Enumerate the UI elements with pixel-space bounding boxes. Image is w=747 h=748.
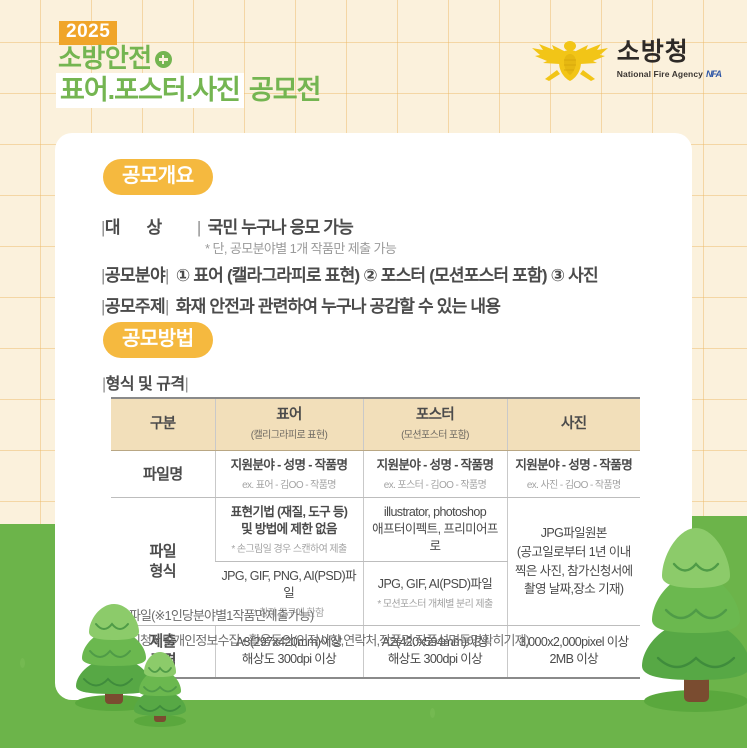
table-cell-format-photo-line1: JPG파일원본: [541, 526, 607, 540]
section-pill-overview: 공모개요: [103, 159, 213, 195]
table-cell-format-slogan-top-line1: 표현기법 (재질, 도구 등): [220, 504, 359, 521]
table-cell-format-slogan-top: 표현기법 (재질, 도구 등) 및 방법에 제한 없음 * 손그림일 경우 스캔…: [215, 498, 363, 562]
table-header-photo: 사진: [507, 398, 640, 451]
pine-tree-icon: [122, 648, 198, 728]
table-cell-format-poster-top-line2: 애프터이펙트, 프리미어프로: [368, 521, 503, 555]
table-rowhead-filename: 파일명: [111, 451, 215, 498]
info-row-field: |공모분야| ① 표어 (캘라그라피로 표현) ② 포스터 (모션포스터 포함)…: [101, 261, 598, 286]
spec-heading-text: 형식 및 규격: [106, 376, 185, 393]
pine-tree-icon: [630, 518, 747, 714]
table-cell-filename-poster-sub: ex. 포스터 - 김OO - 작품명: [368, 476, 503, 491]
table-cell-format-photo-line4: 촬영 날짜,장소 기재): [524, 582, 623, 596]
table-header-slogan-sub: (캘리그라피로 표현): [220, 426, 359, 441]
info-row-target: |대상| 국민 누구나 응모 가능: [101, 213, 353, 238]
info-row-theme: |공모주제| 화재 안전과 관련하여 누구나 공감할 수 있는 내용: [101, 292, 500, 317]
table-header-row: 구분 표어 (캘리그라피로 표현) 포스터 (모션포스터 포함) 사진: [111, 398, 640, 451]
page-title-line1-text: 소방안전: [58, 44, 152, 73]
info-label-theme: 공모주제: [105, 297, 165, 316]
table-cell-filename-photo-main: 지원분야 - 성명 - 작품명: [512, 457, 637, 474]
table-cell-format-slogan-top-line2: 및 방법에 제한 없음: [220, 521, 359, 538]
agency-logo-mark: NFA: [706, 70, 721, 79]
agency-name-en-wrap: National Fire Agency NFA: [617, 70, 721, 79]
table-header-poster-sub: (모션포스터 포함): [368, 426, 503, 441]
table-header-slogan: 표어 (캘리그라피로 표현): [215, 398, 363, 451]
page-title-line2: 표어.포스터.사진공모전: [56, 74, 320, 108]
plus-circle-icon: [155, 51, 172, 68]
table-cell-format-photo-line3: 찍은 사진, 참가신청서에: [515, 564, 633, 578]
page-title-highlight: 표어.포스터.사진: [56, 73, 244, 108]
page-title-tail: 공모전: [249, 75, 321, 105]
table-header-poster-main: 포스터: [368, 407, 503, 424]
table-cell-filename-slogan-sub: ex. 표어 - 김OO - 작품명: [220, 476, 359, 491]
agency-logo: 소방청 National Fire Agency NFA: [532, 31, 721, 87]
info-label-theme-wrap: |공모주제|: [101, 292, 169, 317]
table-header-poster: 포스터 (모션포스터 포함): [363, 398, 507, 451]
table-cell-format-poster-top-line1: illustrator, photoshop: [368, 504, 503, 521]
table-header-slogan-main: 표어: [220, 407, 359, 424]
table-rowhead-format-line2: 형식: [150, 563, 176, 580]
info-label-target-prefix: 대: [105, 218, 147, 237]
table-cell-size-photo-line1: 3,000x2,000pixel 이상: [512, 634, 637, 651]
table-cell-format-photo-block: JPG파일원본 (공고일로부터 1년 이내 찍은 사진, 참가신청서에 촬영 날…: [512, 524, 637, 599]
info-value-field: ① 표어 (캘라그라피로 표현) ② 포스터 (모션포스터 포함) ③ 사진: [176, 261, 598, 286]
table-cell-format-slogan-bottom-main: JPG, GIF, PNG, AI(PSD)파일: [219, 568, 359, 602]
table-cell-format-poster-bottom-main: JPG, GIF, AI(PSD)파일: [368, 576, 503, 593]
page-header: 2025 소방안전 표어.포스터.사진공모전: [0, 0, 747, 133]
agency-name-kr: 소방청: [617, 40, 689, 65]
table-cell-format-slogan-top-sub: * 손그림일 경우 스캔하여 제출: [220, 540, 359, 555]
table-rowhead-format-line1: 파일: [150, 543, 176, 560]
table-cell-filename-poster-main: 지원분야 - 성명 - 작품명: [368, 457, 503, 474]
table-cell-filename-photo: 지원분야 - 성명 - 작품명 ex. 사진 - 김OO - 작품명: [507, 451, 640, 498]
table-cell-size-slogan-line2: 해상도 300dpi 이상: [220, 651, 359, 668]
table-cell-filename-slogan-main: 지원분야 - 성명 - 작품명: [220, 457, 359, 474]
table-cell-filename-slogan: 지원분야 - 성명 - 작품명 ex. 표어 - 김OO - 작품명: [215, 451, 363, 498]
table-header-category-main: 구분: [115, 416, 211, 433]
table-cell-filename-poster: 지원분야 - 성명 - 작품명 ex. 포스터 - 김OO - 작품명: [363, 451, 507, 498]
year-badge: 2025: [59, 21, 117, 45]
table-cell-format-poster-top: illustrator, photoshop 애프터이펙트, 프리미어프로: [363, 498, 507, 562]
info-note-target: * 단, 공모분야별 1개 작품만 제출 가능: [205, 238, 396, 257]
agency-logo-text: 소방청 National Fire Agency NFA: [617, 40, 721, 79]
table-row-format-top: 파일 형식 표현기법 (재질, 도구 등) 및 방법에 제한 없음 * 손그림일…: [111, 498, 640, 562]
section-pill-method: 공모방법: [103, 322, 213, 358]
table-header-photo-main: 사진: [512, 416, 637, 433]
info-label-field-wrap: |공모분야|: [101, 261, 169, 286]
page-title-line1: 소방안전: [58, 44, 172, 73]
info-label-field: 공모분야: [105, 266, 165, 285]
table-cell-size-poster-line2: 해상도 300dpi 이상: [368, 651, 503, 668]
info-value-target: 국민 누구나 응모 가능: [208, 213, 353, 238]
table-cell-filename-photo-sub: ex. 사진 - 김OO - 작품명: [512, 476, 637, 491]
table-row-filename: 파일명 지원분야 - 성명 - 작품명 ex. 표어 - 김OO - 작품명 지…: [111, 451, 640, 498]
table-cell-format-photo-line2: (공고일로부터 1년 이내: [517, 545, 631, 559]
fire-agency-eagle-emblem: [532, 31, 608, 87]
table-cell-size-photo-line2: 2MB 이상: [512, 651, 637, 668]
spec-heading: |형식 및 규격|: [102, 370, 188, 394]
info-label-target: |대상|: [101, 213, 201, 238]
info-label-target-suffix: 상: [146, 218, 161, 237]
info-value-theme: 화재 안전과 관련하여 누구나 공감할 수 있는 내용: [176, 292, 500, 317]
table-header-category: 구분: [111, 398, 215, 451]
agency-name-en: National Fire Agency: [617, 70, 703, 79]
